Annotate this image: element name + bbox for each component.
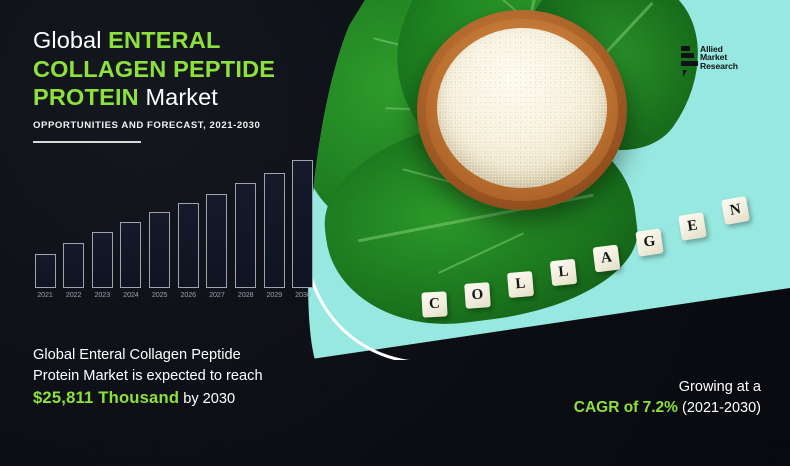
letter-tile: O: [464, 282, 491, 309]
letter-tile: E: [678, 212, 707, 241]
cagr-line-1: Growing at a: [574, 377, 761, 397]
allied-market-research-logo[interactable]: Allied Market Research: [681, 46, 738, 71]
bar-column: [177, 203, 199, 288]
bar-column: [120, 222, 142, 288]
letter-tile: C: [421, 291, 447, 317]
market-value-highlight: $25,811 Thousand: [33, 388, 179, 407]
bar-column: [149, 212, 171, 288]
cagr-period: (2021-2030): [682, 400, 761, 416]
letter-tile: L: [550, 259, 577, 286]
bar-column: [292, 160, 314, 288]
x-axis-tick: 2025: [149, 290, 171, 305]
chart-bar: [63, 243, 84, 288]
bar-column: [91, 232, 113, 288]
chart-bar: [178, 203, 199, 288]
bar-column: [263, 173, 285, 288]
speech-bubble-icon: [681, 46, 698, 68]
left-content-column: Global ENTERAL COLLAGEN PEPTIDE PROTEIN …: [0, 0, 340, 466]
divider: [33, 141, 141, 143]
chart-bar: [120, 222, 141, 288]
chart-bar: [235, 183, 256, 288]
logo-line-3: Research: [700, 63, 738, 70]
infographic-canvas: C O L L A G E N Allied Market Research G…: [0, 0, 790, 466]
title-suffix: Market: [139, 84, 218, 110]
x-axis-tick: 2027: [206, 290, 228, 305]
subtitle: OPPORTUNITIES AND FORECAST, 2021-2030: [33, 120, 260, 131]
bar-column: [206, 194, 228, 288]
title-prefix: Global: [33, 27, 108, 53]
x-axis-tick: 2029: [263, 290, 285, 305]
x-axis-tick: 2021: [34, 290, 56, 305]
bar-column: [235, 183, 257, 288]
chart-bar: [264, 173, 285, 288]
x-axis-tick: 2028: [235, 290, 257, 305]
x-axis-tick: 2024: [120, 290, 142, 305]
x-axis-tick: 2022: [63, 290, 85, 305]
market-value-statement: Global Enteral Collagen Peptide Protein …: [33, 345, 323, 410]
chart-bar: [92, 232, 113, 288]
logo-text: Allied Market Research: [700, 46, 738, 71]
statement-line-2: Protein Market is expected to reach: [33, 368, 263, 384]
page-title: Global ENTERAL COLLAGEN PEPTIDE PROTEIN …: [33, 26, 318, 112]
chart-bar: [206, 194, 227, 288]
x-axis-tick: 2026: [177, 290, 199, 305]
x-axis-tick: 2030: [292, 290, 314, 305]
letter-tile: L: [507, 271, 534, 298]
letter-tile: A: [593, 245, 621, 273]
chart-bar: [292, 160, 313, 288]
chart-x-axis-labels: 2021202220232024202520262027202820292030: [34, 290, 314, 305]
cagr-highlight: CAGR of 7.2%: [574, 399, 678, 416]
chart-bar: [149, 212, 170, 288]
letter-tile: G: [635, 228, 663, 256]
chart-bars: [34, 155, 314, 288]
statement-line-3-tail: by 2030: [179, 391, 235, 407]
x-axis-tick: 2023: [91, 290, 113, 305]
bar-column: [63, 243, 85, 288]
chart-bar: [35, 254, 56, 288]
bar-column: [34, 254, 56, 288]
cagr-callout: Growing at a CAGR of 7.2% (2021-2030): [574, 377, 761, 419]
letter-tile: N: [721, 196, 750, 225]
market-forecast-bar-chart: 2021202220232024202520262027202820292030: [34, 155, 314, 305]
statement-line-1: Global Enteral Collagen Peptide: [33, 347, 241, 363]
